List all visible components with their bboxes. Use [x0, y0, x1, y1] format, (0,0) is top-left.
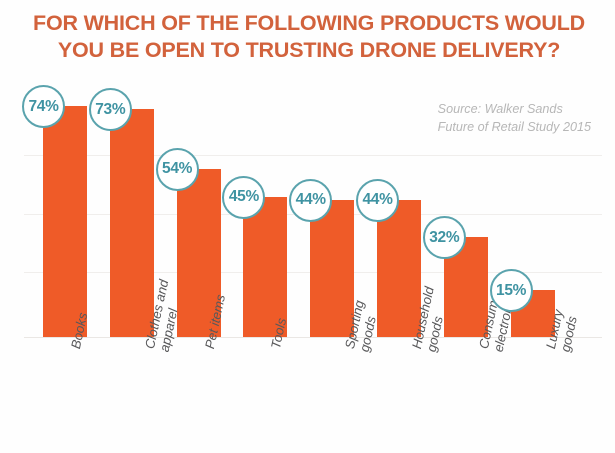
bar-group: [310, 0, 354, 337]
plot-area: 74%73%54%45%44%44%32%15%: [0, 0, 615, 345]
bar-group: [110, 0, 154, 337]
value-bubble: 32%: [423, 216, 466, 259]
value-bubble: 54%: [156, 148, 199, 191]
bar[interactable]: [110, 109, 154, 337]
bar-group: [43, 0, 87, 337]
bar-group: [243, 0, 287, 337]
bar-group: [377, 0, 421, 337]
axis-baseline: [24, 337, 602, 338]
bar[interactable]: [43, 106, 87, 337]
category-axis-labels: BooksClothes andapparelPet itemsToolsSpo…: [0, 345, 615, 453]
value-bubble: 45%: [222, 176, 265, 219]
value-bubble: 73%: [89, 88, 132, 131]
value-bubble: 74%: [22, 85, 65, 128]
drone-delivery-bar-chart: FOR WHICH OF THE FOLLOWING PRODUCTS WOUL…: [0, 0, 615, 453]
value-bubble: 15%: [490, 269, 533, 312]
value-bubble: 44%: [289, 179, 332, 222]
bar-group: [444, 0, 488, 337]
value-bubble: 44%: [356, 179, 399, 222]
